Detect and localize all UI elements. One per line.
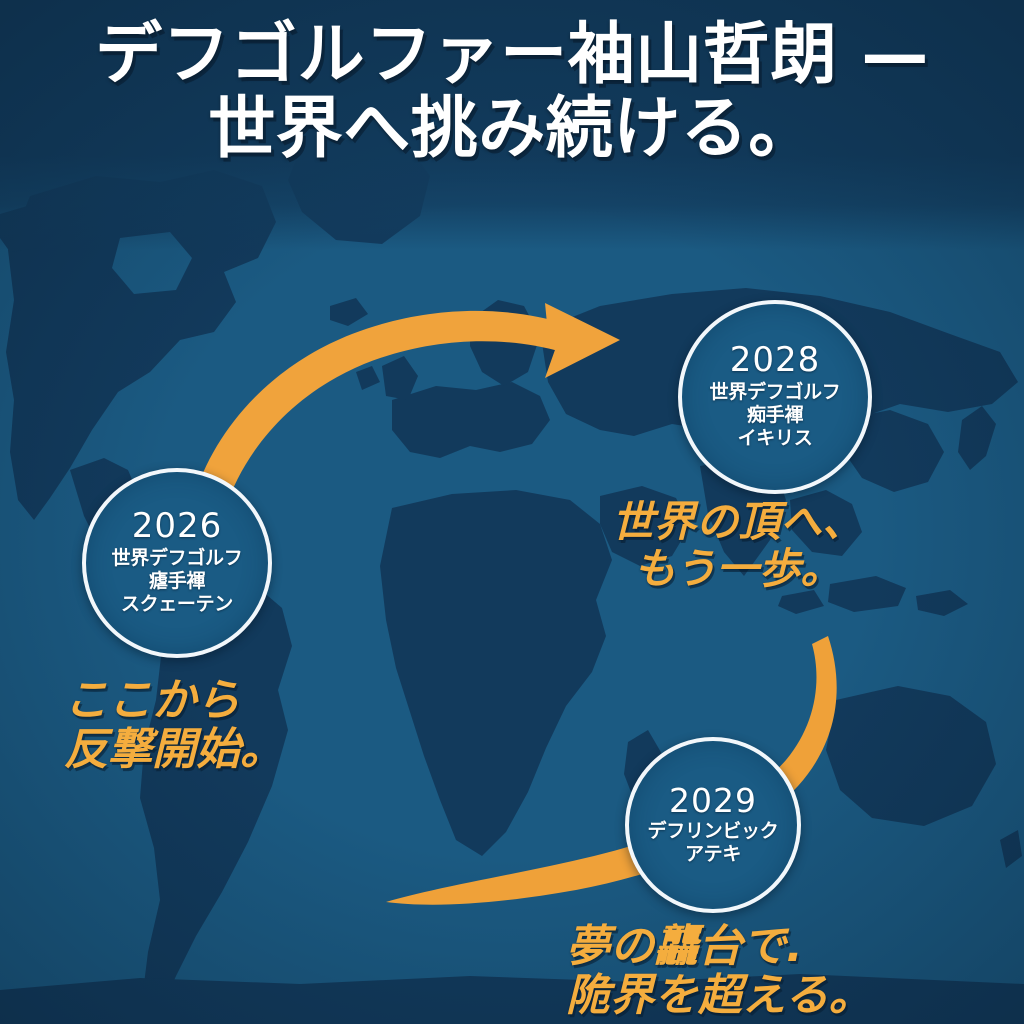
milestone-line-1: デフリンビック bbox=[648, 820, 779, 843]
milestone-line-1: 世界デフゴルフ bbox=[710, 381, 841, 404]
caption-left-line-1: ここから bbox=[64, 675, 240, 726]
milestone-node-2028[interactable]: 2028 世界デフゴルフ 痴手褌 イキリス bbox=[678, 300, 872, 494]
caption-left-line-2: 反撃開始。 bbox=[64, 725, 284, 774]
milestone-line-2: 痴手褌 bbox=[747, 404, 803, 427]
milestone-year: 2029 bbox=[669, 784, 757, 819]
milestone-line-3: スクェーテン bbox=[121, 593, 233, 616]
infographic-poster: デフゴルファー袖山哲朗 — 世界へ挑み続ける。 2026 世界デフゴルフ 瘧手褌… bbox=[0, 0, 1024, 1024]
milestone-line-1: 世界デフゴルフ bbox=[112, 547, 243, 570]
milestone-year: 2028 bbox=[730, 343, 821, 379]
milestone-line-3: イキリス bbox=[738, 427, 813, 450]
caption-left: ここから 反撃開始。 bbox=[64, 676, 284, 775]
caption-bottom-line-2: 陒界を超える。 bbox=[566, 971, 873, 1020]
milestone-node-2026[interactable]: 2026 世界デフゴルフ 瘧手褌 スクェーテン bbox=[82, 468, 272, 658]
caption-bottom: 夢の龘台で. 陒界を超える。 bbox=[566, 922, 873, 1021]
milestone-year: 2026 bbox=[132, 509, 223, 545]
milestone-node-2029[interactable]: 2029 デフリンビック アテキ bbox=[625, 737, 801, 913]
caption-bottom-line-1: 夢の龘台で. bbox=[566, 921, 803, 972]
milestone-line-2: 瘧手褌 bbox=[149, 570, 205, 593]
caption-right-line-2: もう一歩。 bbox=[612, 545, 864, 592]
milestone-line-2: アテキ bbox=[685, 843, 741, 866]
caption-right: 世界の頂へ、 もう一歩。 bbox=[612, 498, 864, 592]
caption-right-line-1: 世界の頂へ、 bbox=[612, 498, 864, 545]
